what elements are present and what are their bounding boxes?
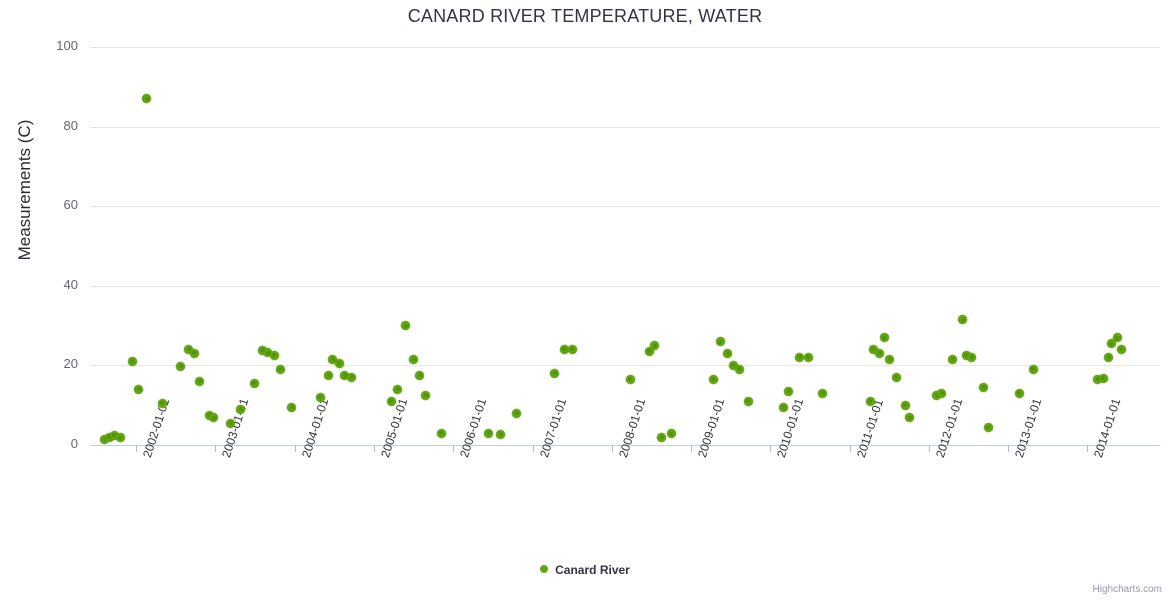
data-point[interactable] bbox=[984, 423, 993, 432]
data-point[interactable] bbox=[905, 413, 914, 422]
x-axis-tick-mark bbox=[533, 445, 534, 452]
data-point[interactable] bbox=[128, 357, 137, 366]
data-point[interactable] bbox=[496, 430, 505, 439]
data-point[interactable] bbox=[335, 359, 344, 368]
data-point[interactable] bbox=[716, 337, 725, 346]
data-point[interactable] bbox=[784, 387, 793, 396]
data-point[interactable] bbox=[134, 385, 143, 394]
x-axis-tick-label: 2014-01-01 bbox=[1091, 397, 1123, 460]
data-point[interactable] bbox=[650, 341, 659, 350]
data-point[interactable] bbox=[116, 433, 125, 442]
y-axis-tick-label: 20 bbox=[18, 356, 78, 371]
data-point[interactable] bbox=[1015, 389, 1024, 398]
data-point[interactable] bbox=[401, 321, 410, 330]
gridline bbox=[90, 286, 1160, 287]
data-point[interactable] bbox=[316, 393, 325, 402]
data-point[interactable] bbox=[568, 345, 577, 354]
gridline bbox=[90, 206, 1160, 207]
data-point[interactable] bbox=[276, 365, 285, 374]
data-point[interactable] bbox=[779, 403, 788, 412]
data-point[interactable] bbox=[287, 403, 296, 412]
x-axis-tick-mark bbox=[136, 445, 137, 452]
x-axis-tick-mark bbox=[374, 445, 375, 452]
x-axis-tick-label: 2005-01-01 bbox=[378, 397, 410, 460]
data-point[interactable] bbox=[1029, 365, 1038, 374]
x-axis-tick-mark bbox=[929, 445, 930, 452]
gridline bbox=[90, 365, 1160, 366]
x-axis-tick-label: 2012-01-01 bbox=[933, 397, 965, 460]
x-axis-tick-label: 2009-01-01 bbox=[695, 397, 727, 460]
data-point[interactable] bbox=[723, 349, 732, 358]
x-axis-tick-mark bbox=[850, 445, 851, 452]
gridline bbox=[90, 127, 1160, 128]
data-point[interactable] bbox=[176, 362, 185, 371]
highcharts-credit[interactable]: Highcharts.com bbox=[1093, 584, 1162, 595]
data-point[interactable] bbox=[866, 397, 875, 406]
data-point[interactable] bbox=[347, 373, 356, 382]
x-axis-tick-label: 2004-01-01 bbox=[299, 397, 331, 460]
data-point[interactable] bbox=[387, 397, 396, 406]
plot-area: 0204060801002002-01-012003-01-012004-01-… bbox=[90, 47, 1160, 445]
data-point[interactable] bbox=[744, 397, 753, 406]
data-point[interactable] bbox=[270, 351, 279, 360]
y-axis-tick-label: 60 bbox=[18, 197, 78, 212]
x-axis-tick-mark bbox=[1008, 445, 1009, 452]
data-point[interactable] bbox=[937, 389, 946, 398]
data-point[interactable] bbox=[1104, 353, 1113, 362]
chart-legend: Canard River bbox=[0, 563, 1170, 577]
data-point[interactable] bbox=[892, 373, 901, 382]
legend-item-canard-river[interactable]: Canard River bbox=[555, 563, 630, 577]
x-axis-tick-mark bbox=[612, 445, 613, 452]
data-point[interactable] bbox=[393, 385, 402, 394]
data-point[interactable] bbox=[626, 375, 635, 384]
gridline bbox=[90, 47, 1160, 48]
data-point[interactable] bbox=[709, 375, 718, 384]
data-point[interactable] bbox=[958, 315, 967, 324]
x-axis-tick-mark bbox=[215, 445, 216, 452]
x-axis-tick-mark bbox=[770, 445, 771, 452]
data-point[interactable] bbox=[550, 369, 559, 378]
data-point[interactable] bbox=[875, 349, 884, 358]
data-point[interactable] bbox=[967, 353, 976, 362]
chart-title: CANARD RIVER TEMPERATURE, WATER bbox=[0, 6, 1170, 27]
data-point[interactable] bbox=[1113, 333, 1122, 342]
data-point[interactable] bbox=[421, 391, 430, 400]
data-point[interactable] bbox=[880, 333, 889, 342]
data-point[interactable] bbox=[209, 413, 218, 422]
data-point[interactable] bbox=[195, 377, 204, 386]
x-axis-tick-label: 2003-01-01 bbox=[219, 397, 251, 460]
y-axis-title: Measurements (C) bbox=[15, 70, 35, 310]
data-point[interactable] bbox=[885, 355, 894, 364]
data-point[interactable] bbox=[158, 399, 167, 408]
data-point[interactable] bbox=[142, 94, 151, 103]
data-point[interactable] bbox=[667, 429, 676, 438]
x-axis-tick-label: 2006-01-01 bbox=[457, 397, 489, 460]
data-point[interactable] bbox=[250, 379, 259, 388]
scatter-chart: CANARD RIVER TEMPERATURE, WATER Measurem… bbox=[0, 0, 1170, 600]
circle-marker-icon bbox=[540, 565, 548, 573]
data-point[interactable] bbox=[979, 383, 988, 392]
y-axis-tick-label: 100 bbox=[18, 38, 78, 53]
data-point[interactable] bbox=[818, 389, 827, 398]
x-axis-tick-mark bbox=[691, 445, 692, 452]
data-point[interactable] bbox=[484, 429, 493, 438]
y-axis-tick-label: 80 bbox=[18, 118, 78, 133]
data-point[interactable] bbox=[795, 353, 804, 362]
data-point[interactable] bbox=[190, 349, 199, 358]
x-axis-tick-mark bbox=[1087, 445, 1088, 452]
data-point[interactable] bbox=[735, 365, 744, 374]
x-axis-tick-label: 2007-01-01 bbox=[537, 397, 569, 460]
data-point[interactable] bbox=[226, 419, 235, 428]
data-point[interactable] bbox=[901, 401, 910, 410]
y-axis-tick-label: 40 bbox=[18, 277, 78, 292]
data-point[interactable] bbox=[1099, 374, 1108, 383]
data-point[interactable] bbox=[512, 409, 521, 418]
x-axis-tick-label: 2011-01-01 bbox=[854, 397, 886, 459]
data-point[interactable] bbox=[236, 405, 245, 414]
data-point[interactable] bbox=[657, 433, 666, 442]
data-point[interactable] bbox=[437, 429, 446, 438]
data-point[interactable] bbox=[948, 355, 957, 364]
y-axis-tick-label: 0 bbox=[18, 436, 78, 451]
data-point[interactable] bbox=[409, 355, 418, 364]
x-axis-tick-mark bbox=[453, 445, 454, 452]
data-point[interactable] bbox=[324, 371, 333, 380]
data-point[interactable] bbox=[415, 371, 424, 380]
x-axis-tick-mark bbox=[295, 445, 296, 452]
x-axis-tick-label: 2002-01-01 bbox=[140, 397, 172, 460]
data-point[interactable] bbox=[1117, 345, 1126, 354]
x-axis-tick-label: 2008-01-01 bbox=[616, 397, 648, 460]
x-axis-tick-label: 2013-01-01 bbox=[1012, 397, 1044, 460]
data-point[interactable] bbox=[804, 353, 813, 362]
